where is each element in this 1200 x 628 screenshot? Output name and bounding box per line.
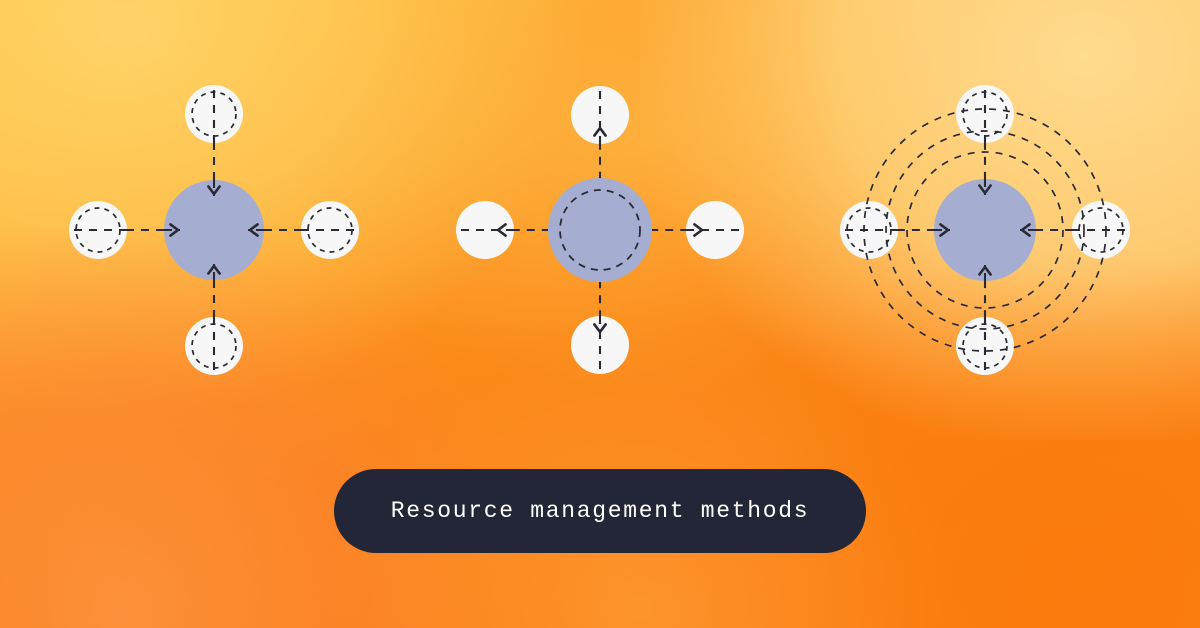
node-left (456, 201, 514, 259)
cluster-orbital-inbound (840, 85, 1130, 375)
cluster-distributed-outbound (456, 86, 744, 374)
node-bottom (571, 316, 629, 374)
poster-canvas: Resource management methods (0, 0, 1200, 628)
cluster-centralized-inbound (69, 85, 359, 375)
title-banner: Resource management methods (334, 469, 866, 553)
hub-circle (548, 178, 652, 282)
title-banner-label: Resource management methods (391, 500, 810, 523)
node-top (185, 85, 243, 143)
node-right (686, 201, 744, 259)
node-right (301, 201, 359, 259)
node-left (69, 201, 127, 259)
node-top (571, 86, 629, 144)
node-bottom (185, 317, 243, 375)
